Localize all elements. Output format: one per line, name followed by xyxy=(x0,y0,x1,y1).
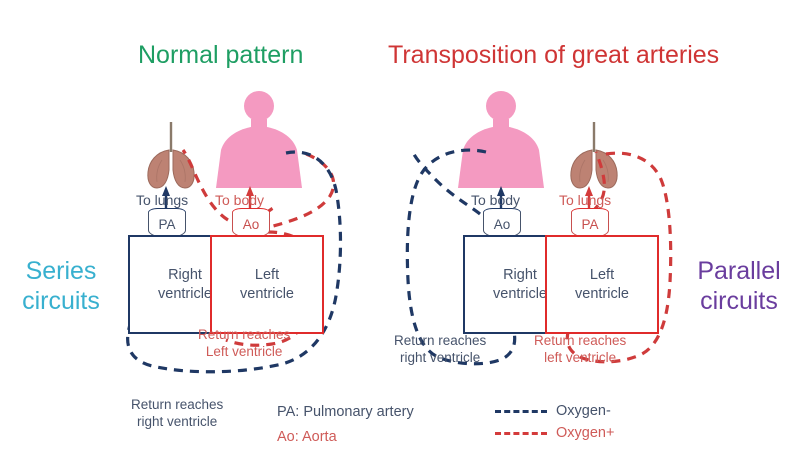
annotation-line-2: left ventricle xyxy=(534,349,626,366)
annotation-right-panel-left-ventricle: Return reaches left ventricle xyxy=(534,332,626,366)
annotation-line-1: Return reaches xyxy=(198,326,290,343)
legend-item-oxygen-low: Oxygen- xyxy=(495,400,614,422)
dest-label-left-to-lungs: To lungs xyxy=(136,192,188,208)
annotation-left-panel-right-ventricle: Return reaches right ventricle xyxy=(131,396,223,430)
annotation-line-1: Return reaches xyxy=(131,396,223,413)
legend-item-oxygen-high: Oxygen+ xyxy=(495,422,614,444)
annotation-line-2: right ventricle xyxy=(131,413,223,430)
ventricle-right-panel-left: Left ventricle xyxy=(545,235,659,334)
dashed-line-icon xyxy=(495,432,547,435)
circuit-paths xyxy=(0,0,800,450)
dest-label-right-to-body: To body xyxy=(471,192,520,208)
ventricle-line-1: Right xyxy=(168,267,202,283)
legend: Oxygen- Oxygen+ xyxy=(495,400,614,444)
annotation-line-1: Return reaches xyxy=(394,332,486,349)
abbreviation-key: PA: Pulmonary artery Ao: Aorta xyxy=(277,400,414,450)
ventricle-left-panel-left: Left ventricle xyxy=(210,235,324,334)
legend-label: Oxygen- xyxy=(556,403,611,419)
path-right-ao-to-body xyxy=(412,150,480,214)
dest-label-left-to-body: To body xyxy=(215,192,264,208)
abbrev-ao: Ao: Aorta xyxy=(277,425,414,450)
ventricle-line-2: ventricle xyxy=(240,286,294,302)
annotation-line-1: Return reaches xyxy=(534,332,626,349)
diagram-canvas: Normal pattern Transposition of great ar… xyxy=(0,0,800,450)
ventricle-line-2: ventricle xyxy=(575,286,629,302)
ventricle-line-1: Right xyxy=(503,267,537,283)
annotation-line-2: Left ventricle xyxy=(198,343,290,360)
annotation-line-2: right ventricle xyxy=(394,349,486,366)
abbrev-pa: PA: Pulmonary artery xyxy=(277,400,414,425)
dest-label-right-to-lungs: To lungs xyxy=(559,192,611,208)
path-left-body-to-lungs xyxy=(183,150,228,220)
annotation-left-panel-left-ventricle: Return reaches Left ventricle xyxy=(198,326,290,360)
legend-label: Oxygen+ xyxy=(556,425,614,441)
annotation-right-panel-right-ventricle: Return reaches right ventricle xyxy=(394,332,486,366)
ventricle-line-2: ventricle xyxy=(158,286,212,302)
ventricle-line-1: Left xyxy=(590,267,614,283)
dashed-line-icon xyxy=(495,410,547,413)
ventricle-line-1: Left xyxy=(255,267,279,283)
ventricle-line-2: ventricle xyxy=(493,286,547,302)
